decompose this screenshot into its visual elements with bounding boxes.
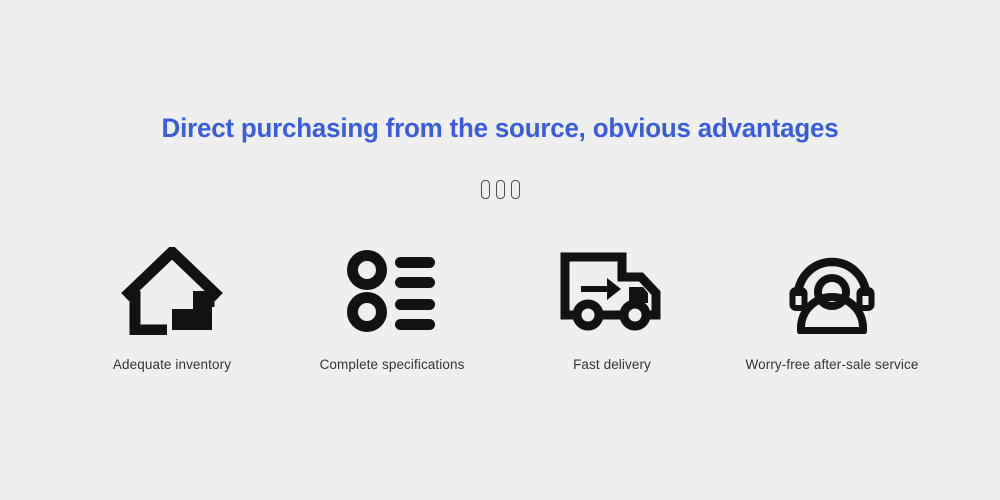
divider-pip-3 xyxy=(511,180,520,199)
divider-pip-1 xyxy=(481,180,490,199)
feature-item-after-sale-service: Worry-free after-sale service xyxy=(722,245,942,372)
feature-item-inventory: Adequate inventory xyxy=(62,245,282,372)
specification-list-icon xyxy=(346,245,438,337)
feature-item-specifications: Complete specifications xyxy=(282,245,502,372)
three-pip-divider xyxy=(0,180,1000,199)
feature-item-delivery: Fast delivery xyxy=(502,245,722,372)
page-title: Direct purchasing from the source, obvio… xyxy=(20,113,980,144)
feature-label: Complete specifications xyxy=(320,357,465,372)
customer-service-headset-icon xyxy=(785,245,879,337)
feature-list: Adequate inventory Complete specificatio… xyxy=(62,245,942,372)
promo-banner: Direct purchasing from the source, obvio… xyxy=(0,0,1000,500)
feature-label: Worry-free after-sale service xyxy=(746,357,919,372)
delivery-truck-icon xyxy=(559,245,665,337)
divider-pip-2 xyxy=(496,180,505,199)
feature-label: Fast delivery xyxy=(573,357,651,372)
warehouse-icon xyxy=(121,245,223,337)
feature-label: Adequate inventory xyxy=(113,357,231,372)
